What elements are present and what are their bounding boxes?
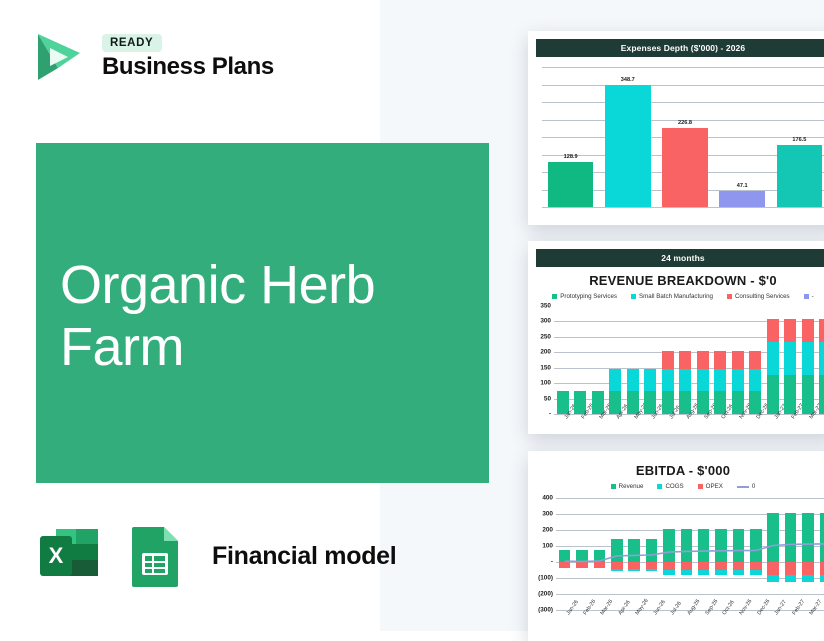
bar-segment: [662, 369, 674, 391]
y-axis-tick: 200: [540, 349, 551, 356]
legend-label: OPEX: [706, 483, 723, 490]
plot-area-ebitda: 400300200100-(100)(200)(300)Jan-26Feb-26…: [556, 498, 824, 610]
bar-segment: [819, 319, 824, 342]
page-title: Organic Herb Farm: [60, 255, 460, 378]
bar-segment: [749, 369, 761, 391]
y-axis-tick: 250: [540, 333, 551, 340]
legend-label: COGS: [665, 483, 683, 490]
ebitda-line-series: [556, 498, 824, 610]
stacked-bar: Jan-26: [557, 391, 569, 414]
legend-item: Revenue: [611, 483, 644, 490]
stacked-bar: Aug-26: [679, 351, 691, 414]
stacked-bar: Jun-26: [644, 369, 656, 414]
legend-swatch: [657, 484, 662, 489]
stacked-bar: Mar-27: [802, 319, 814, 414]
bar-value-label: 226.8: [678, 120, 692, 126]
bar-segment: [784, 342, 796, 374]
bar-segment: [679, 351, 691, 370]
ready-badge: READY: [102, 34, 162, 52]
svg-text:X: X: [49, 543, 64, 568]
bar: 176.5: [777, 145, 823, 207]
bar-segment: [767, 342, 779, 374]
financial-model-label: Financial model: [212, 542, 396, 571]
legend-item: OPEX: [698, 483, 723, 490]
bar: 226.8: [662, 128, 708, 207]
legend-label: Small Batch Manufacturing: [639, 293, 713, 300]
y-axis-tick: 300: [540, 318, 551, 325]
bar-segment: [767, 375, 779, 414]
y-axis-tick: 350: [540, 303, 551, 310]
bar: 47.1: [719, 191, 765, 207]
y-axis-tick: 150: [540, 364, 551, 371]
legend-swatch: [727, 294, 732, 299]
legend-item: Small Batch Manufacturing: [631, 293, 713, 300]
chart-band-revenue: 24 months: [536, 249, 824, 267]
bar-segment: [609, 369, 621, 391]
legend-label: Revenue: [619, 483, 644, 490]
bar-segment: [714, 369, 726, 391]
y-axis-tick: (300): [538, 607, 553, 614]
bar-segment: [697, 369, 709, 391]
stacked-bar: Oct-26: [714, 351, 726, 414]
bar-segment: [644, 369, 656, 391]
gridline: [542, 207, 824, 208]
bar-segment: [749, 351, 761, 370]
bar-segment: [732, 351, 744, 370]
bar-value-label: 176.5: [792, 137, 806, 143]
bar-segment: [767, 319, 779, 342]
legend-item: Prototyping Services: [552, 293, 617, 300]
chart-card-expenses[interactable]: Expenses Depth ($'000) - 2026 128.9348.7…: [528, 31, 824, 225]
legend-item: -: [804, 293, 814, 300]
chart-title-ebitda: EBITDA - $'000: [528, 463, 824, 478]
plot-area-expenses: 128.9348.7226.847.1176.5: [542, 67, 824, 207]
y-axis-tick: 300: [542, 511, 553, 518]
bar-segment: [802, 342, 814, 374]
y-axis-tick: 50: [544, 395, 551, 402]
bar-value-label: 47.1: [737, 183, 748, 189]
bar-segment: [732, 369, 744, 391]
chart-card-revenue[interactable]: 24 months REVENUE BREAKDOWN - $'0 Protot…: [528, 241, 824, 434]
y-axis-tick: (100): [538, 575, 553, 582]
brand-name: Business Plans: [102, 54, 274, 79]
bar-segment: [662, 351, 674, 370]
stacked-bar: Jul-26: [662, 351, 674, 414]
bar-segment: [697, 351, 709, 370]
gridline: [542, 102, 824, 103]
bar-value-label: 128.9: [564, 154, 578, 160]
gridline: [542, 85, 824, 86]
brand-logo: READY Business Plans: [28, 26, 274, 88]
financial-model-row: X Financial model: [30, 519, 396, 593]
bar: 128.9: [548, 162, 594, 207]
bar-segment: [679, 369, 691, 391]
bar-segment: [819, 342, 824, 374]
chart-legend-ebitda: RevenueCOGSOPEX0: [528, 483, 824, 490]
microsoft-excel-icon: X: [30, 519, 104, 593]
legend-swatch: [631, 294, 636, 299]
legend-swatch: [611, 484, 616, 489]
stacked-bar: Sep-26: [697, 351, 709, 414]
bar-segment: [784, 375, 796, 414]
stacked-bar: Jan-27: [767, 319, 779, 414]
y-axis-tick: -: [551, 559, 553, 566]
gridline: [542, 67, 824, 68]
legend-swatch: [737, 486, 749, 488]
google-sheets-icon: [120, 519, 190, 593]
y-axis-tick: -: [549, 411, 551, 418]
slide-canvas: READY Business Plans Organic Herb Farm X: [0, 0, 824, 631]
stacked-bar: Apr-26: [609, 369, 621, 414]
y-axis-tick: 400: [542, 495, 553, 502]
legend-item: 0: [737, 483, 755, 490]
legend-swatch: [552, 294, 557, 299]
stacked-bar: Feb-26: [574, 391, 586, 414]
bar: 348.7: [605, 85, 651, 207]
bar-segment: [627, 369, 639, 391]
y-axis-tick: 100: [540, 380, 551, 387]
bar-segment: [802, 319, 814, 342]
legend-swatch: [698, 484, 703, 489]
y-axis-tick: 100: [542, 543, 553, 550]
stacked-bar: Nov-26: [732, 351, 744, 414]
brand-text-block: READY Business Plans: [102, 34, 274, 79]
legend-item: COGS: [657, 483, 683, 490]
chart-card-ebitda[interactable]: EBITDA - $'000 RevenueCOGSOPEX0 40030020…: [528, 451, 824, 641]
bar-segment: [714, 351, 726, 370]
legend-swatch: [804, 294, 809, 299]
chart-legend-revenue: Prototyping ServicesSmall Batch Manufact…: [528, 293, 824, 300]
chart-title-revenue: REVENUE BREAKDOWN - $'0: [528, 273, 824, 288]
stacked-bar: Dec-26: [749, 351, 761, 414]
stacked-bar: May-26: [627, 369, 639, 414]
stacked-bar: Apr-27: [819, 319, 824, 414]
play-triangle-logo-icon: [28, 26, 90, 88]
legend-label: -: [812, 293, 814, 300]
bar-value-label: 348.7: [621, 77, 635, 83]
plot-area-revenue: 35030025020015010050-Jan-26Feb-26Mar-26A…: [554, 306, 824, 414]
y-axis-tick: (200): [538, 591, 553, 598]
legend-label: Prototyping Services: [560, 293, 617, 300]
legend-label: 0: [752, 483, 755, 490]
bar-segment: [819, 375, 824, 414]
legend-item: Consulting Services: [727, 293, 790, 300]
legend-label: Consulting Services: [735, 293, 790, 300]
y-axis-tick: 200: [542, 527, 553, 534]
bar-segment: [784, 319, 796, 342]
stacked-bar: Feb-27: [784, 319, 796, 414]
bar-segment: [802, 375, 814, 414]
stacked-bar: Mar-26: [592, 391, 604, 414]
chart-band-expenses: Expenses Depth ($'000) - 2026: [536, 39, 824, 57]
